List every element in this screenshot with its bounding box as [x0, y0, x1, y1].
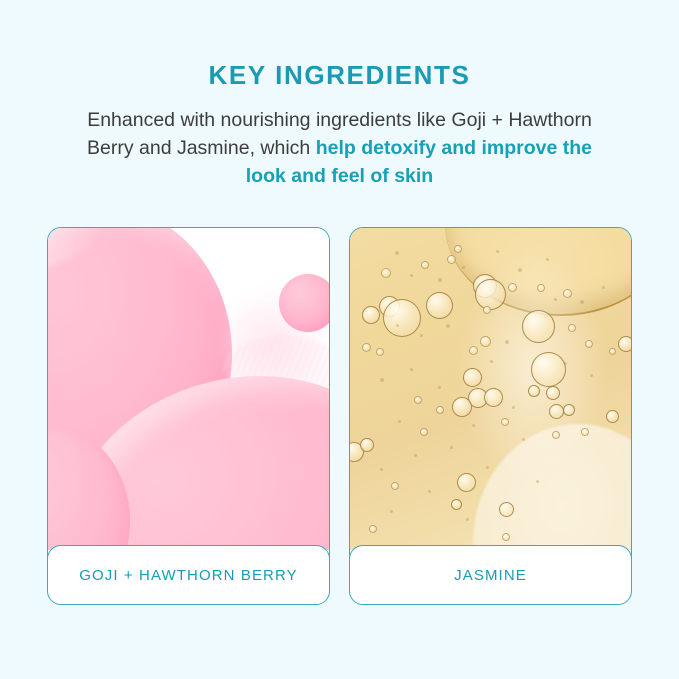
micro-bubble	[518, 268, 522, 272]
bubble	[360, 438, 374, 452]
ingredient-card-list: GOJI + HAWTHORN BERRY	[47, 227, 632, 605]
micro-bubble	[496, 250, 499, 253]
bubble-small	[502, 533, 510, 541]
bubble	[362, 306, 380, 324]
micro-bubble	[512, 406, 515, 409]
bubble-small	[376, 348, 384, 356]
card-media	[48, 228, 329, 550]
micro-bubble	[580, 300, 584, 304]
bubble-small	[508, 283, 517, 292]
bubble-small	[568, 324, 576, 332]
micro-bubble	[564, 362, 567, 365]
micro-bubble	[395, 251, 399, 255]
micro-bubble	[466, 518, 469, 521]
bubble-small	[381, 268, 391, 278]
micro-bubble	[554, 298, 557, 301]
micro-bubble	[486, 466, 489, 469]
micro-bubble	[438, 386, 441, 389]
micro-bubble	[410, 368, 413, 371]
micro-bubble	[420, 334, 423, 337]
micro-bubble	[398, 420, 401, 423]
page-title: KEY INGREDIENTS	[0, 58, 679, 92]
bubble-small	[369, 525, 377, 533]
micro-bubble	[410, 274, 413, 277]
bubble-small	[552, 431, 560, 439]
bubble-small	[414, 396, 422, 404]
bubble	[618, 336, 631, 352]
micro-bubble	[450, 446, 453, 449]
golden-oil-bubbles-image	[350, 228, 631, 550]
card-label-text: GOJI + HAWTHORN BERRY	[79, 567, 298, 584]
bubble-small	[581, 428, 589, 436]
bubble	[606, 410, 619, 423]
bubble	[546, 386, 560, 400]
bubble	[528, 385, 540, 397]
header: KEY INGREDIENTS Enhanced with nourishing…	[0, 58, 679, 190]
bubble	[452, 397, 472, 417]
micro-bubble	[462, 266, 465, 269]
bubble	[457, 473, 476, 492]
bubble-small	[483, 306, 491, 314]
bubble	[475, 279, 506, 310]
micro-bubble	[546, 258, 549, 261]
bubble-small	[563, 289, 572, 298]
micro-bubble	[414, 454, 417, 457]
bubble	[463, 368, 482, 387]
ingredient-card-jasmine[interactable]: JASMINE	[349, 227, 632, 605]
bubble-small	[391, 482, 399, 490]
bubble-small	[585, 340, 593, 348]
micro-bubble	[490, 360, 493, 363]
bubble-small	[447, 255, 456, 264]
bubble-small	[480, 336, 491, 347]
bubble	[522, 310, 555, 343]
bubble-small	[469, 346, 478, 355]
ingredient-card-goji-hawthorn-berry[interactable]: GOJI + HAWTHORN BERRY	[47, 227, 330, 605]
bubble-small	[420, 428, 428, 436]
pink-oil-droplets-image	[48, 228, 329, 550]
micro-bubble	[590, 374, 593, 377]
bubble	[499, 502, 514, 517]
bubble-small	[436, 406, 444, 414]
micro-bubble	[428, 490, 431, 493]
bubble-small	[454, 245, 462, 253]
micro-bubble	[396, 324, 399, 327]
pink-droplet-small	[279, 274, 329, 332]
bubble-small	[421, 261, 429, 269]
bubble	[451, 499, 462, 510]
micro-bubble	[380, 378, 384, 382]
micro-bubble	[446, 324, 450, 328]
subtitle: Enhanced with nourishing ingredients lik…	[70, 106, 610, 190]
bubble	[383, 299, 421, 337]
card-label-panel: GOJI + HAWTHORN BERRY	[47, 545, 330, 605]
bubble-small	[609, 348, 616, 355]
micro-bubble	[602, 286, 605, 289]
micro-bubble	[380, 468, 383, 471]
card-media	[350, 228, 631, 550]
bubble	[484, 388, 503, 407]
bubble	[549, 404, 564, 419]
bubble	[563, 404, 575, 416]
bubble-small	[501, 418, 509, 426]
micro-bubble	[472, 424, 475, 427]
micro-bubble	[438, 278, 442, 282]
bubble	[426, 292, 453, 319]
ingredients-panel: KEY INGREDIENTS Enhanced with nourishing…	[0, 0, 679, 679]
card-label-panel: JASMINE	[349, 545, 632, 605]
micro-bubble	[522, 438, 525, 441]
bubble	[531, 352, 566, 387]
micro-bubble	[390, 510, 393, 513]
micro-bubble	[505, 340, 509, 344]
micro-bubble	[536, 480, 539, 483]
bubble-small	[362, 343, 371, 352]
card-label-text: JASMINE	[454, 567, 527, 584]
bubble-small	[537, 284, 545, 292]
